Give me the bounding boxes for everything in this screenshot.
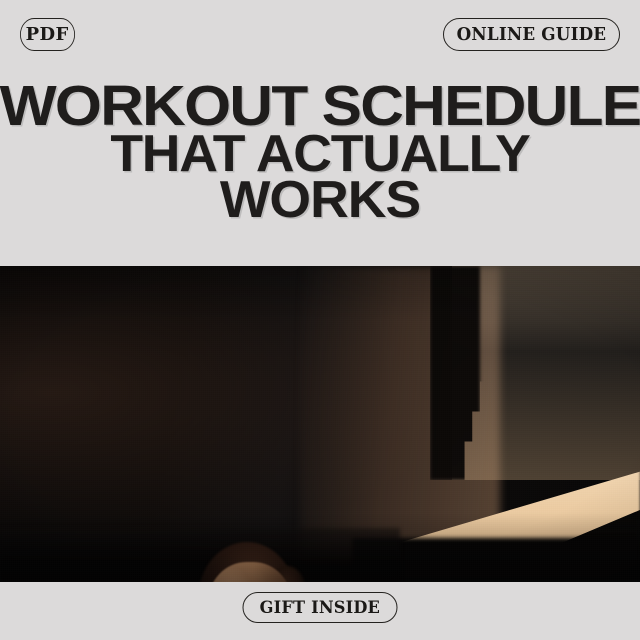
gift-inside-badge-label: GIFT INSIDE bbox=[260, 598, 380, 618]
hero-photo bbox=[0, 266, 640, 582]
gift-inside-badge[interactable]: GIFT INSIDE bbox=[243, 592, 398, 623]
photo-grain bbox=[0, 266, 640, 582]
poster-canvas: PDF ONLINE GUIDE WORKOUT SCHEDULE THAT A… bbox=[0, 0, 640, 640]
online-guide-badge[interactable]: ONLINE GUIDE bbox=[443, 18, 620, 51]
headline-line-1: WORKOUT SCHEDULE bbox=[0, 82, 640, 131]
pdf-badge-label: PDF bbox=[26, 24, 69, 45]
top-badge-row: PDF ONLINE GUIDE bbox=[0, 0, 640, 68]
online-guide-badge-label: ONLINE GUIDE bbox=[457, 24, 607, 45]
headline-line-3: WORKS bbox=[0, 178, 640, 223]
pdf-badge[interactable]: PDF bbox=[20, 18, 75, 51]
page-title: WORKOUT SCHEDULE THAT ACTUALLY WORKS bbox=[0, 82, 640, 222]
